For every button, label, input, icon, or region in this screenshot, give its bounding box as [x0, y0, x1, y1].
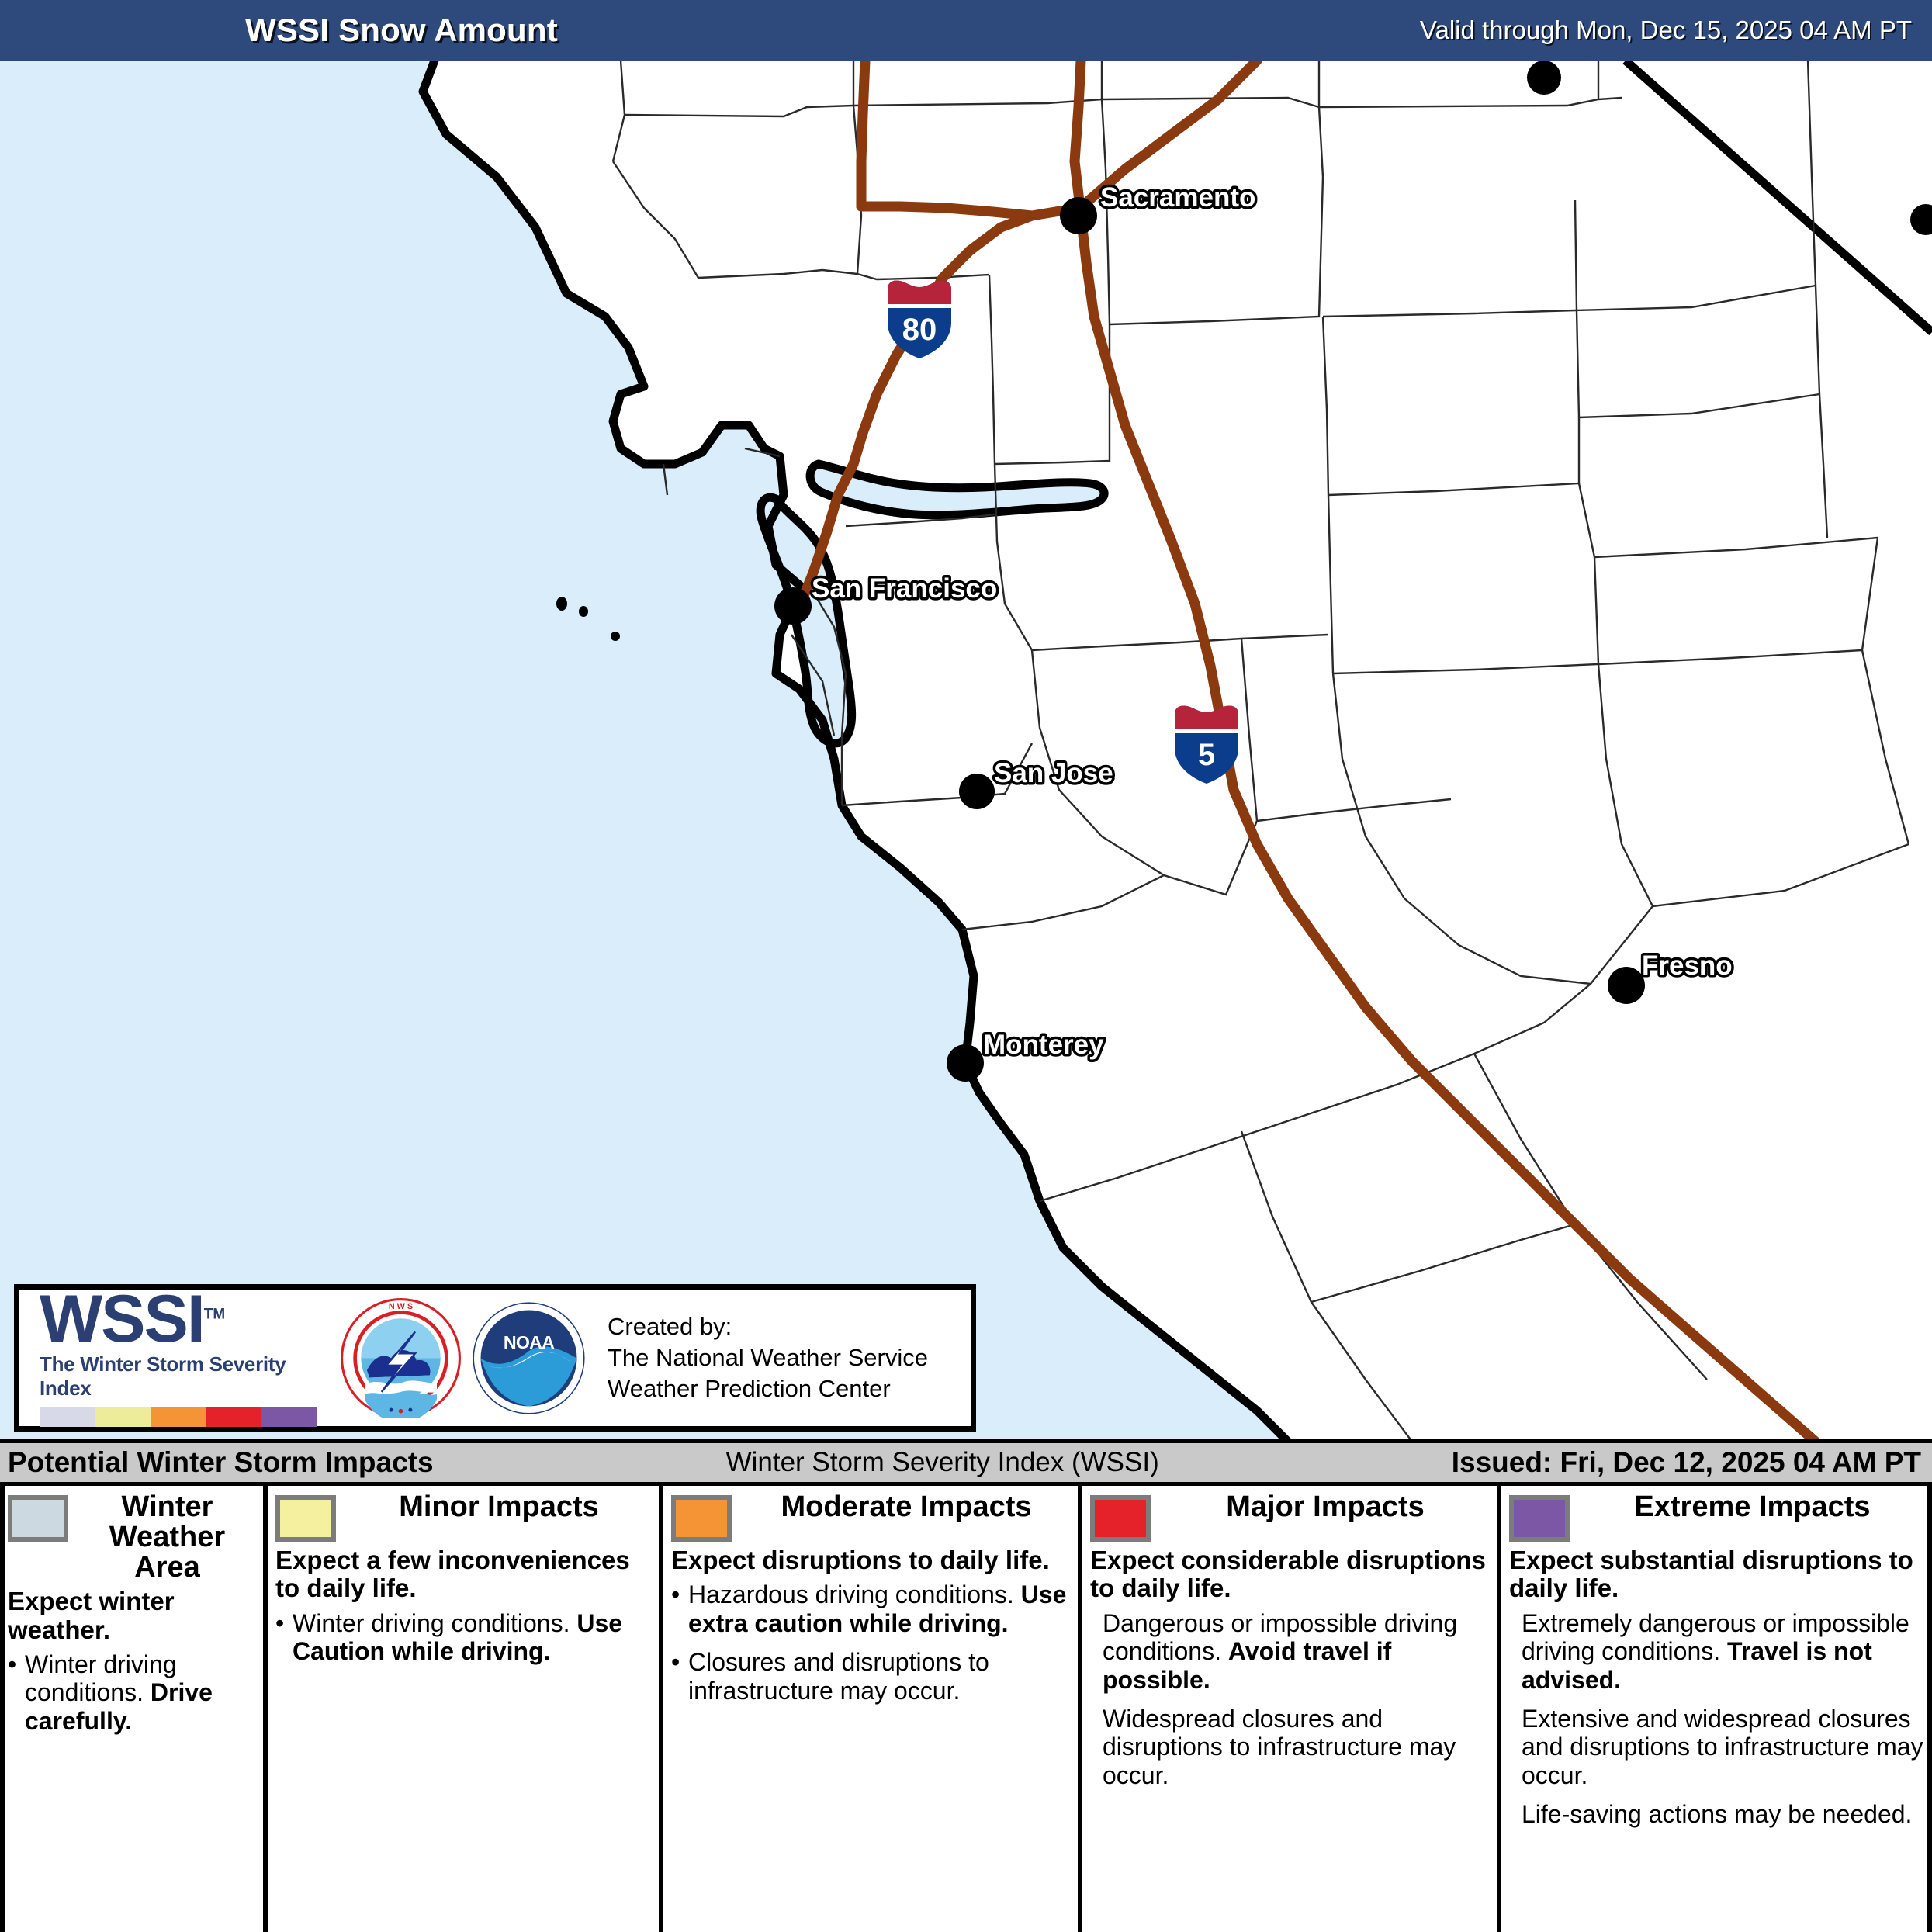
legend-header-moderate-impacts: Moderate Impacts	[671, 1492, 1070, 1542]
bullet-text: Hazardous driving conditions. Use extra …	[688, 1581, 1070, 1637]
legend-bullets-extreme-impacts: •Extremely dangerous or impossible drivi…	[1509, 1609, 1924, 1829]
legend-swatch-moderate-impacts[interactable]	[671, 1495, 732, 1542]
legend-swatch-minor-impacts[interactable]	[275, 1495, 336, 1542]
legend-bar-subtitle: Winter Storm Severity Index (WSSI)	[434, 1447, 1452, 1478]
legend-summary-major-impacts: Expect considerable disruptions to daily…	[1090, 1546, 1489, 1603]
city-label-fresno: Fresno	[1642, 950, 1733, 981]
legend-summary-minor-impacts: Expect a few inconveniences to daily lif…	[275, 1546, 651, 1603]
bullet-dot-icon: •	[671, 1648, 688, 1705]
city-dot-san-jose[interactable]	[959, 774, 995, 809]
legend-column-extreme-impacts: Extreme ImpactsExpect substantial disrup…	[1501, 1486, 1932, 1932]
bullet-dot-icon: •	[671, 1581, 688, 1637]
legend-bullet-winter-weather-area-1: •Winter driving conditions. Drive carefu…	[8, 1650, 255, 1735]
legend-header-extreme-impacts: Extreme Impacts	[1509, 1492, 1924, 1542]
credit-box: WSSITM The Winter Storm Severity Index	[14, 1284, 976, 1432]
legend-bar-left-title: Potential Winter Storm Impacts	[0, 1446, 434, 1479]
valid-through-text: Valid through Mon, Dec 15, 2025 04 AM PT	[1420, 16, 1912, 45]
page-title: WSSI Snow Amount	[20, 12, 558, 49]
legend-swatch-winter-weather-area[interactable]	[8, 1495, 68, 1542]
city-dot-sacramento[interactable]	[1060, 197, 1097, 234]
impact-legend: Winter Weather AreaExpect winter weather…	[0, 1486, 1932, 1932]
legend-bullet-moderate-impacts-2: •Closures and disruptions to infrastruct…	[671, 1648, 1070, 1705]
wssi-color-bar	[40, 1407, 317, 1427]
bullet-text: Extensive and widespread closures and di…	[1522, 1705, 1924, 1789]
legend-bullet-major-impacts-1: •Dangerous or impossible driving conditi…	[1090, 1609, 1489, 1694]
legend-bullet-extreme-impacts-2: •Extensive and widespread closures and d…	[1509, 1705, 1924, 1789]
legend-column-winter-weather-area: Winter Weather AreaExpect winter weather…	[0, 1486, 268, 1932]
legend-bullets-winter-weather-area: •Winter driving conditions. Drive carefu…	[8, 1650, 255, 1735]
wssi-tagline: The Winter Storm Severity Index	[40, 1352, 330, 1401]
bullet-text: Dangerous or impossible driving conditio…	[1103, 1609, 1489, 1694]
farallon-island-2	[579, 606, 588, 617]
legend-column-major-impacts: Major ImpactsExpect considerable disrupt…	[1082, 1486, 1501, 1932]
farallon-island-1	[556, 597, 567, 611]
legend-label-moderate-impacts: Moderate Impacts	[743, 1492, 1070, 1522]
wssi-bar-swatch-1	[40, 1407, 95, 1427]
legend-bullet-moderate-impacts-1: •Hazardous driving conditions. Use extra…	[671, 1581, 1070, 1637]
legend-column-minor-impacts: Minor ImpactsExpect a few inconveniences…	[268, 1486, 663, 1932]
wssi-trademark: TM	[204, 1307, 225, 1323]
city-label-sacramento: Sacramento	[1100, 182, 1255, 213]
wssi-bar-swatch-5	[261, 1407, 317, 1427]
city-label-san-francisco: San Francisco	[812, 573, 997, 604]
city-dot-san-francisco[interactable]	[774, 587, 812, 625]
farallon-island-3	[611, 632, 620, 641]
legend-swatch-extreme-impacts[interactable]	[1509, 1495, 1570, 1542]
legend-column-moderate-impacts: Moderate ImpactsExpect disruptions to da…	[663, 1486, 1082, 1932]
wssi-bar-swatch-3	[151, 1407, 206, 1427]
legend-header-winter-weather-area: Winter Weather Area	[8, 1492, 255, 1583]
bullet-text: Life-saving actions may be needed.	[1522, 1800, 1924, 1828]
bullet-text: Winter driving conditions. Use Caution w…	[293, 1609, 651, 1666]
city-label-monterey: Monterey	[983, 1030, 1104, 1060]
legend-label-winter-weather-area: Winter Weather Area	[79, 1492, 255, 1583]
bullet-text: Extremely dangerous or impossible drivin…	[1522, 1609, 1924, 1694]
bullet-dot-icon: •	[8, 1650, 25, 1735]
city-dot-north-edge[interactable]	[1527, 61, 1561, 95]
svg-text:NOAA: NOAA	[504, 1332, 555, 1352]
agency-logos: N W S NOAA	[330, 1298, 600, 1418]
credit-text: Created by: The National Weather Service…	[600, 1311, 928, 1405]
map-canvas[interactable]: Sacramento San Francisco San Jose Fresno…	[0, 61, 1932, 1442]
legend-swatch-major-impacts[interactable]	[1090, 1495, 1151, 1542]
credit-line-1: Created by:	[608, 1311, 928, 1342]
legend-summary-winter-weather-area: Expect winter weather.	[8, 1587, 255, 1644]
bullet-dot-icon: •	[275, 1609, 293, 1666]
wssi-wordmark: WSSITM	[40, 1289, 330, 1350]
legend-label-major-impacts: Major Impacts	[1162, 1492, 1489, 1522]
wssi-logo: WSSITM The Winter Storm Severity Index	[19, 1289, 330, 1426]
legend-bullets-minor-impacts: •Winter driving conditions. Use Caution …	[275, 1609, 651, 1666]
shield-label-5: 5	[1198, 738, 1215, 772]
bullet-text: Closures and disruptions to infrastructu…	[688, 1648, 1070, 1705]
legend-bullet-major-impacts-2: •Widespread closures and disruptions to …	[1090, 1705, 1489, 1789]
noaa-logo: NOAA	[469, 1298, 589, 1418]
map-svg: Sacramento San Francisco San Jose Fresno…	[0, 61, 1932, 1442]
bullet-text: Widespread closures and disruptions to i…	[1103, 1705, 1489, 1789]
legend-bullet-minor-impacts-1: •Winter driving conditions. Use Caution …	[275, 1609, 651, 1666]
credit-line-3: Weather Prediction Center	[608, 1373, 928, 1404]
page-header: WSSI Snow Amount Valid through Mon, Dec …	[0, 0, 1932, 61]
legend-summary-moderate-impacts: Expect disruptions to daily life.	[671, 1546, 1070, 1574]
legend-summary-extreme-impacts: Expect substantial disruptions to daily …	[1509, 1546, 1924, 1603]
national-weather-service-logo: N W S	[341, 1298, 461, 1418]
legend-bullet-extreme-impacts-1: •Extremely dangerous or impossible drivi…	[1509, 1609, 1924, 1694]
legend-label-extreme-impacts: Extreme Impacts	[1581, 1492, 1924, 1522]
city-label-san-jose: San Jose	[994, 758, 1113, 788]
legend-bullet-extreme-impacts-3: •Life-saving actions may be needed.	[1509, 1800, 1924, 1828]
wssi-snow-amount-map-page: WSSI Snow Amount Valid through Mon, Dec …	[0, 0, 1932, 1932]
legend-bar-issued-text: Issued: Fri, Dec 12, 2025 04 AM PT	[1452, 1446, 1932, 1479]
legend-title-bar: Potential Winter Storm Impacts Winter St…	[0, 1439, 1932, 1486]
credit-line-2: The National Weather Service	[608, 1342, 928, 1373]
legend-header-minor-impacts: Minor Impacts	[275, 1492, 651, 1542]
svg-text:N W S: N W S	[389, 1301, 413, 1311]
wssi-bar-swatch-4	[206, 1407, 262, 1427]
legend-bullets-moderate-impacts: •Hazardous driving conditions. Use extra…	[671, 1581, 1070, 1705]
city-dot-monterey[interactable]	[947, 1044, 984, 1082]
legend-bullets-major-impacts: •Dangerous or impossible driving conditi…	[1090, 1609, 1489, 1790]
bullet-text: Winter driving conditions. Drive careful…	[25, 1650, 255, 1735]
wssi-bar-swatch-2	[95, 1407, 151, 1427]
legend-label-minor-impacts: Minor Impacts	[347, 1492, 651, 1522]
city-dot-fresno[interactable]	[1608, 967, 1645, 1004]
shield-label-80: 80	[902, 313, 937, 347]
legend-header-major-impacts: Major Impacts	[1090, 1492, 1489, 1542]
